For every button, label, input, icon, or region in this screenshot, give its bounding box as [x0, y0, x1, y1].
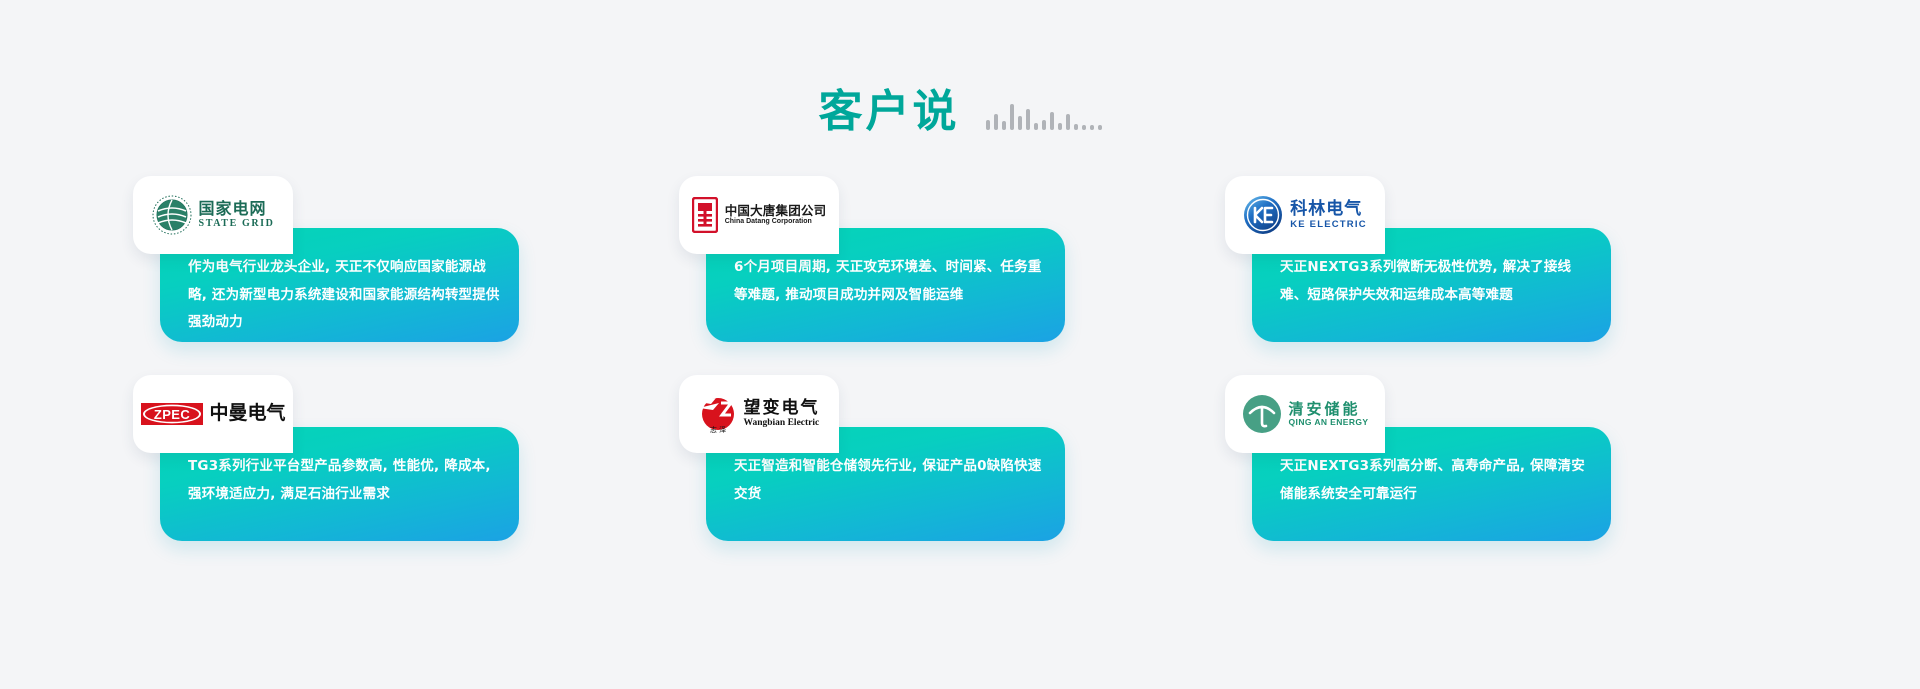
- brand-logo-text: 科林电气KE ELECTRIC: [1290, 200, 1367, 230]
- waveform-bar: [1074, 124, 1078, 130]
- waveform-bar: [1026, 109, 1030, 130]
- waveform-bar: [1042, 120, 1046, 130]
- brand-logo: 中国大唐集团公司China Datang Corporation: [692, 197, 827, 233]
- brand-name-cn: 科林电气: [1290, 200, 1367, 219]
- waveform-bar: [1090, 125, 1094, 130]
- waveform-bar: [1002, 121, 1006, 130]
- brand-logo-tab: 科林电气KE ELECTRIC: [1225, 176, 1385, 254]
- brand-logo: 国家电网STATE GRID: [152, 195, 275, 235]
- testimonial-card[interactable]: 科林电气KE ELECTRIC天正NEXTG3系列微断无极性优势, 解决了接线难…: [1225, 176, 1611, 342]
- waveform-bar: [994, 114, 998, 130]
- brand-logo-text: 中国大唐集团公司China Datang Corporation: [725, 204, 827, 226]
- qingan-circle-icon: [1242, 394, 1282, 434]
- state-grid-globe-icon: [152, 195, 192, 235]
- testimonial-grid: 国家电网STATE GRID作为电气行业龙头企业, 天正不仅响应国家能源战略, …: [133, 176, 1787, 541]
- testimonial-card[interactable]: ZPEC 中曼电气TG3系列行业平台型产品参数高, 性能优, 降成本, 强环境适…: [133, 375, 519, 541]
- testimonial-quote: TG3系列行业平台型产品参数高, 性能优, 降成本, 强环境适应力, 满足石油行…: [188, 453, 502, 508]
- ke-electric-badge-icon: [1243, 195, 1283, 235]
- brand-name-cn: 中国大唐集团公司: [725, 204, 827, 218]
- testimonial-card[interactable]: 清安储能QING AN ENERGY天正NEXTG3系列高分断、高寿命产品, 保…: [1225, 375, 1611, 541]
- wangbian-swoosh-icon: 志 泽: [699, 394, 737, 434]
- brand-logo-tab: ZPEC 中曼电气: [133, 375, 293, 453]
- testimonial-card[interactable]: 志 泽 望变电气Wangbian Electric天正智造和智能仓储领先行业, …: [679, 375, 1065, 541]
- brand-logo-tab: 中国大唐集团公司China Datang Corporation: [679, 176, 839, 254]
- section-heading: 客户说: [0, 62, 1920, 134]
- brand-logo-tab: 志 泽 望变电气Wangbian Electric: [679, 375, 839, 453]
- audio-waveform-icon: [986, 92, 1102, 134]
- brand-logo: 清安储能QING AN ENERGY: [1242, 394, 1369, 434]
- testimonial-quote: 天正NEXTG3系列高分断、高寿命产品, 保障清安储能系统安全可靠运行: [1280, 453, 1594, 508]
- brand-name-en: Wangbian Electric: [744, 418, 820, 429]
- waveform-bar: [1010, 104, 1014, 130]
- waveform-bar: [1050, 112, 1054, 130]
- waveform-bar: [1066, 114, 1070, 130]
- testimonial-card[interactable]: 中国大唐集团公司China Datang Corporation6个月项目周期,…: [679, 176, 1065, 342]
- testimonial-card[interactable]: 国家电网STATE GRID作为电气行业龙头企业, 天正不仅响应国家能源战略, …: [133, 176, 519, 342]
- brand-name-en: KE ELECTRIC: [1290, 219, 1367, 230]
- svg-text:志 泽: 志 泽: [709, 425, 725, 434]
- brand-name-en: China Datang Corporation: [725, 218, 827, 226]
- brand-name-cn: 中曼电气: [210, 403, 286, 424]
- waveform-bar: [986, 120, 990, 130]
- brand-logo-text: 国家电网STATE GRID: [199, 200, 275, 230]
- testimonial-quote: 天正NEXTG3系列微断无极性优势, 解决了接线难、短路保护失效和运维成本高等难…: [1280, 254, 1594, 309]
- brand-logo: 科林电气KE ELECTRIC: [1243, 195, 1367, 235]
- waveform-bar: [1082, 125, 1086, 130]
- waveform-bar: [1018, 116, 1022, 130]
- brand-name-en: STATE GRID: [199, 218, 275, 230]
- brand-name-cn: 望变电气: [744, 399, 820, 418]
- svg-text:ZPEC: ZPEC: [153, 407, 189, 422]
- zpec-banner-icon: ZPEC: [141, 400, 203, 428]
- waveform-bar: [1034, 123, 1038, 130]
- brand-name-cn: 清安储能: [1289, 401, 1369, 418]
- customer-testimonials-section: 客户说 国家电网STATE GRID作为电气行业龙头企业, 天正不仅响应国家能源…: [0, 0, 1920, 689]
- brand-logo: ZPEC 中曼电气: [141, 400, 286, 428]
- brand-logo-tab: 清安储能QING AN ENERGY: [1225, 375, 1385, 453]
- testimonial-quote: 6个月项目周期, 天正攻克环境差、时间紧、任务重等难题, 推动项目成功并网及智能…: [734, 254, 1048, 309]
- brand-name-cn: 国家电网: [199, 200, 275, 218]
- brand-name-en: QING AN ENERGY: [1289, 417, 1369, 427]
- waveform-bar: [1098, 125, 1102, 130]
- waveform-bar: [1058, 123, 1062, 130]
- brand-logo-text: 清安储能QING AN ENERGY: [1289, 401, 1369, 428]
- page-title: 客户说: [819, 90, 960, 134]
- brand-logo-text: 望变电气Wangbian Electric: [744, 399, 820, 429]
- brand-logo-text: 中曼电气: [210, 403, 286, 424]
- brand-logo: 志 泽 望变电气Wangbian Electric: [699, 394, 820, 434]
- brand-logo-tab: 国家电网STATE GRID: [133, 176, 293, 254]
- testimonial-quote: 天正智造和智能仓储领先行业, 保证产品0缺陷快速交货: [734, 453, 1048, 508]
- testimonial-quote: 作为电气行业龙头企业, 天正不仅响应国家能源战略, 还为新型电力系统建设和国家能…: [188, 254, 502, 337]
- datang-seal-icon: [692, 197, 718, 233]
